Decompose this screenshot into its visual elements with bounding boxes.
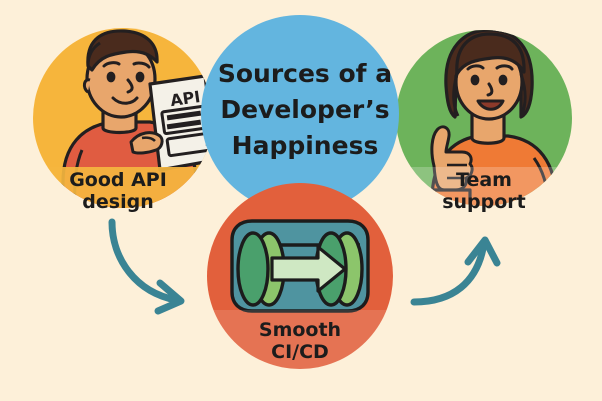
good-api-design-label-line2: design: [82, 191, 153, 213]
center-title-line2: Developer’s: [220, 95, 389, 124]
smooth-ci-cd-label-line2: CI/CD: [271, 341, 329, 363]
team-support-label-line1: Team: [456, 169, 512, 191]
smooth-ci-cd-label-line1: Smooth: [259, 319, 341, 341]
infographic-canvas: API Good API design: [0, 0, 602, 401]
good-api-design-label-line1: Good API: [69, 169, 167, 191]
diagram-stage: API Good API design: [0, 0, 602, 401]
center-title-line1: Sources of a: [218, 59, 392, 88]
team-support-label-line2: support: [442, 191, 526, 213]
center-title-line3: Happiness: [232, 131, 379, 160]
pipeline-conveyor-arrow-icon: [232, 221, 368, 311]
